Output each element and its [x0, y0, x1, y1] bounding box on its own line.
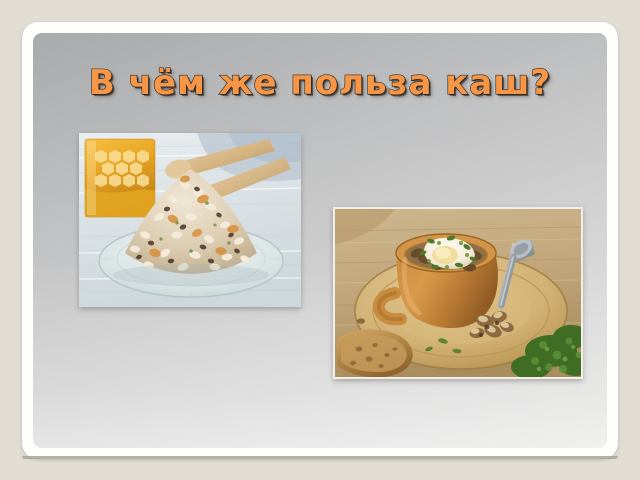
page-title: В чём же польза каш?: [33, 63, 607, 103]
slide-surface: В чём же польза каш?: [33, 33, 607, 448]
clay-pot-porridge-illustration: [335, 209, 581, 377]
kutya-bowl-illustration: [79, 133, 301, 307]
slide-canvas: В чём же польза каш?: [0, 0, 640, 480]
kutya-bowl-photo: [79, 133, 301, 307]
slide-frame: В чём же польза каш?: [22, 22, 618, 459]
clay-pot-porridge-photo: [333, 207, 583, 379]
